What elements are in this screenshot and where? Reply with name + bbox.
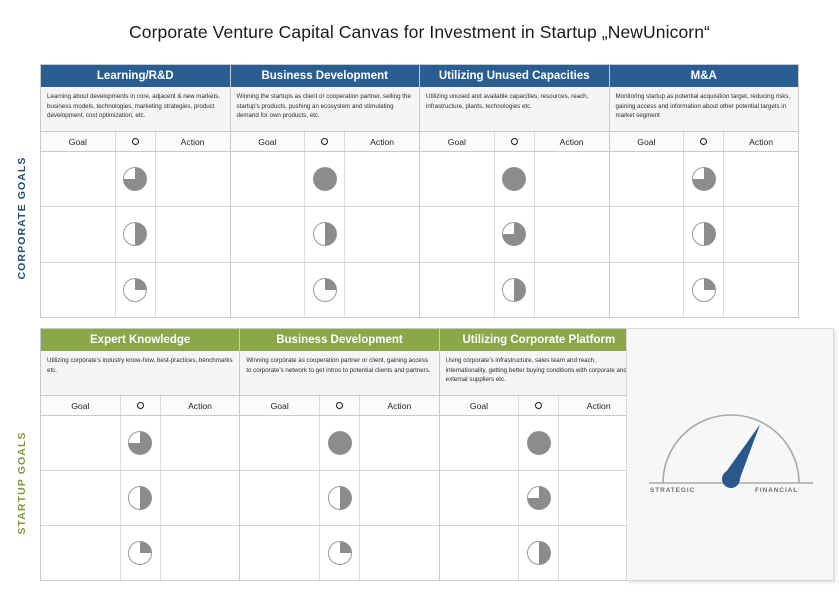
table-row [440,471,638,526]
column-header-indicator [684,132,724,151]
action-cell[interactable] [156,207,230,261]
table-row [231,263,420,317]
progress-pie-icon [312,277,338,303]
table-row [41,471,239,526]
progress-pie-cell[interactable] [684,207,724,261]
progress-pie-cell[interactable] [519,471,559,525]
progress-pie-icon [691,221,717,247]
pillar-description: Utilizing unused and available capacitie… [420,87,609,132]
action-cell[interactable] [724,152,798,206]
pillar-title: Learning/R&D [41,65,230,87]
indicator-circle-icon [321,138,328,145]
column-header-action: Action [161,396,240,415]
progress-pie-icon [691,166,717,192]
progress-pie-cell[interactable] [121,416,161,470]
action-cell[interactable] [724,207,798,261]
progress-pie-icon [127,485,153,511]
pillar-rows [41,416,239,580]
action-cell[interactable] [360,471,439,525]
section-corporate-goals: Learning/R&DLearning about developments … [40,64,799,318]
pillar-title: Business Development [231,65,420,87]
column-header-row: GoalAction [231,132,420,152]
goal-cell[interactable] [440,526,520,580]
table-row [41,526,239,580]
column-header-action: Action [345,132,419,151]
column-header-goal: Goal [420,132,495,151]
gauge-label-financial: FINANCIAL [755,487,798,494]
action-cell[interactable] [724,263,798,317]
progress-pie-icon [526,485,552,511]
strategic-financial-gauge-panel: STRATEGIC FINANCIAL [626,328,834,581]
progress-pie-cell[interactable] [305,152,345,206]
progress-pie-cell[interactable] [495,152,535,206]
pillar-title: M&A [610,65,799,87]
column-header-indicator [519,396,559,415]
column-header-row: GoalAction [41,132,230,152]
goal-cell[interactable] [240,471,320,525]
goal-cell[interactable] [231,207,306,261]
goal-cell[interactable] [440,471,520,525]
goal-cell[interactable] [41,152,116,206]
pillar-description: Winning the startups as client or cooper… [231,87,420,132]
progress-pie-cell[interactable] [116,207,156,261]
pillar-startup-1: Expert KnowledgeUtilizing corporate’s in… [41,329,240,580]
table-row [231,207,420,262]
pillar-rows [231,152,420,317]
progress-pie-icon [312,221,338,247]
pillar-rows [610,152,799,317]
progress-pie-cell[interactable] [116,152,156,206]
pillar-rows [420,152,609,317]
gauge-dial-icon [641,409,821,495]
table-row [240,471,438,526]
pillar-corporate-3: Utilizing Unused CapacitiesUtilizing unu… [420,65,610,317]
pillar-description: Utilizing corporate’s industry know-how,… [41,351,239,396]
pillar-startup-2: Business DevelopmentWinning corporate as… [240,329,439,580]
column-header-action: Action [156,132,230,151]
pillar-startup-3: Utilizing Corporate PlatformUsing corpor… [440,329,638,580]
column-header-action: Action [360,396,439,415]
pillar-rows [41,152,230,317]
cvc-canvas: Corporate Venture Capital Canvas for Inv… [0,0,839,611]
table-row [240,416,438,471]
goal-cell[interactable] [440,416,520,470]
goal-cell[interactable] [41,526,121,580]
progress-pie-icon [526,540,552,566]
column-header-goal: Goal [41,396,121,415]
progress-pie-cell[interactable] [121,471,161,525]
page-title: Corporate Venture Capital Canvas for Inv… [0,22,839,43]
goal-cell[interactable] [420,152,495,206]
indicator-circle-icon [336,402,343,409]
column-header-indicator [116,132,156,151]
indicator-circle-icon [511,138,518,145]
pillar-corporate-2: Business DevelopmentWinning the startups… [231,65,421,317]
pillar-title: Utilizing Corporate Platform [440,329,638,351]
goal-cell[interactable] [231,152,306,206]
pillar-rows [240,416,438,580]
column-header-row: GoalAction [610,132,799,152]
progress-pie-cell[interactable] [305,263,345,317]
goal-cell[interactable] [610,207,685,261]
action-cell[interactable] [161,471,240,525]
progress-pie-icon [501,166,527,192]
column-header-row: GoalAction [420,132,609,152]
pillar-description: Monitoring startup as potential acquisit… [610,87,799,132]
indicator-circle-icon [535,402,542,409]
table-row [610,207,799,262]
pillar-title: Expert Knowledge [41,329,239,351]
pillar-description: Learning about developments in core, adj… [41,87,230,132]
pillar-corporate-1: Learning/R&DLearning about developments … [41,65,231,317]
table-row [240,526,438,580]
column-header-indicator [320,396,360,415]
table-row [41,207,230,262]
action-cell[interactable] [161,416,240,470]
startup-pillar-grid: Expert KnowledgeUtilizing corporate’s in… [41,329,638,580]
pillar-title: Business Development [240,329,438,351]
progress-pie-icon [122,277,148,303]
progress-pie-cell[interactable] [121,526,161,580]
indicator-circle-icon [137,402,144,409]
action-cell[interactable] [535,207,609,261]
column-header-action: Action [535,132,609,151]
column-header-row: GoalAction [240,396,438,416]
goal-cell[interactable] [41,471,121,525]
progress-pie-icon [327,430,353,456]
progress-pie-cell[interactable] [495,207,535,261]
progress-pie-icon [526,430,552,456]
action-cell[interactable] [360,416,439,470]
action-cell[interactable] [535,152,609,206]
goal-cell[interactable] [41,263,116,317]
progress-pie-cell[interactable] [320,471,360,525]
progress-pie-icon [327,540,353,566]
action-cell[interactable] [345,263,419,317]
pillar-rows [440,416,638,580]
pillar-corporate-4: M&AMonitoring startup as potential acqui… [610,65,799,317]
progress-pie-icon [122,166,148,192]
progress-pie-icon [122,221,148,247]
goal-cell[interactable] [41,416,121,470]
goal-cell[interactable] [240,416,320,470]
table-row [420,152,609,207]
progress-pie-cell[interactable] [684,152,724,206]
column-header-row: GoalAction [41,396,239,416]
goal-cell[interactable] [610,152,685,206]
progress-pie-cell[interactable] [684,263,724,317]
pillar-title: Utilizing Unused Capacities [420,65,609,87]
progress-pie-cell[interactable] [519,416,559,470]
table-row [420,207,609,262]
column-header-goal: Goal [440,396,520,415]
progress-pie-cell[interactable] [116,263,156,317]
progress-pie-icon [501,277,527,303]
table-row [440,416,638,471]
progress-pie-cell[interactable] [305,207,345,261]
column-header-goal: Goal [41,132,116,151]
progress-pie-icon [312,166,338,192]
progress-pie-cell[interactable] [320,526,360,580]
table-row [41,152,230,207]
table-row [440,526,638,580]
goal-cell[interactable] [420,207,495,261]
goal-cell[interactable] [240,526,320,580]
pillar-description: Using corporate’s infrastructure, sales … [440,351,638,396]
column-header-action: Action [724,132,798,151]
goal-cell[interactable] [610,263,685,317]
column-header-indicator [121,396,161,415]
indicator-circle-icon [132,138,139,145]
section-startup-goals: Expert KnowledgeUtilizing corporate’s in… [40,328,639,581]
column-header-indicator [495,132,535,151]
table-row [41,416,239,471]
table-row [231,152,420,207]
action-cell[interactable] [161,526,240,580]
action-cell[interactable] [345,207,419,261]
goal-cell[interactable] [41,207,116,261]
progress-pie-cell[interactable] [495,263,535,317]
column-header-goal: Goal [240,396,320,415]
progress-pie-cell[interactable] [519,526,559,580]
side-label-startup-goals: STARTUP GOALS [16,383,28,583]
column-header-indicator [305,132,345,151]
indicator-circle-icon [700,138,707,145]
gauge-needle-icon [722,424,760,488]
column-header-goal: Goal [610,132,685,151]
action-cell[interactable] [535,263,609,317]
table-row [41,263,230,317]
action-cell[interactable] [156,152,230,206]
column-header-goal: Goal [231,132,306,151]
action-cell[interactable] [345,152,419,206]
table-row [420,263,609,317]
table-row [610,263,799,317]
progress-pie-cell[interactable] [320,416,360,470]
goal-cell[interactable] [231,263,306,317]
pillar-description: Winning corporate as cooperation partner… [240,351,438,396]
table-row [610,152,799,207]
progress-pie-icon [691,277,717,303]
progress-pie-icon [127,430,153,456]
corporate-pillar-grid: Learning/R&DLearning about developments … [41,65,798,317]
action-cell[interactable] [360,526,439,580]
progress-pie-icon [501,221,527,247]
goal-cell[interactable] [420,263,495,317]
progress-pie-icon [327,485,353,511]
side-label-corporate-goals: CORPORATE GOALS [16,118,28,318]
column-header-row: GoalAction [440,396,638,416]
progress-pie-icon [127,540,153,566]
gauge-label-strategic: STRATEGIC [650,487,695,494]
action-cell[interactable] [156,263,230,317]
